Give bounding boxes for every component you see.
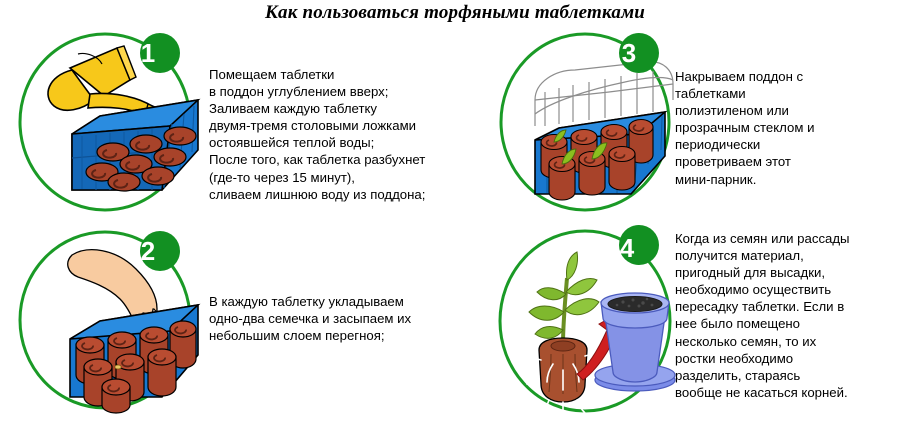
seedling-icon [529,252,599,344]
watering-can-tray-illustration [12,30,207,215]
step-panel-3: Накрываем поддон с таблетками полиэтилен… [497,30,907,215]
step-badge-4-circle [619,225,659,265]
pot-soil [608,297,662,312]
step-1-text: Помещаем таблетки в поддон углублением в… [209,66,509,203]
step-2-text: В каждую таблетку укладываем одно-два се… [209,293,504,344]
step-3-text: Накрываем поддон с таблетками полиэтилен… [675,68,910,188]
covered-tray-greenhouse-illustration [497,30,677,215]
root-ball-icon [527,338,599,415]
hand-sowing-seed-illustration [12,225,207,415]
seedling-transplant-illustration [495,224,680,419]
step-4-text: Когда из семян или рассады получится мат… [675,230,910,401]
step-panel-4: Когда из семян или рассады получится мат… [495,224,910,424]
page-title: Как пользоваться торфяными таблетками [0,2,910,24]
step-badge-2-circle [140,231,180,271]
seed-icon [115,365,121,369]
step-badge-1-circle [140,33,180,73]
step-badge-3-circle [619,33,659,73]
infographic-root: Как пользоваться торфяными таблетками [0,0,910,428]
